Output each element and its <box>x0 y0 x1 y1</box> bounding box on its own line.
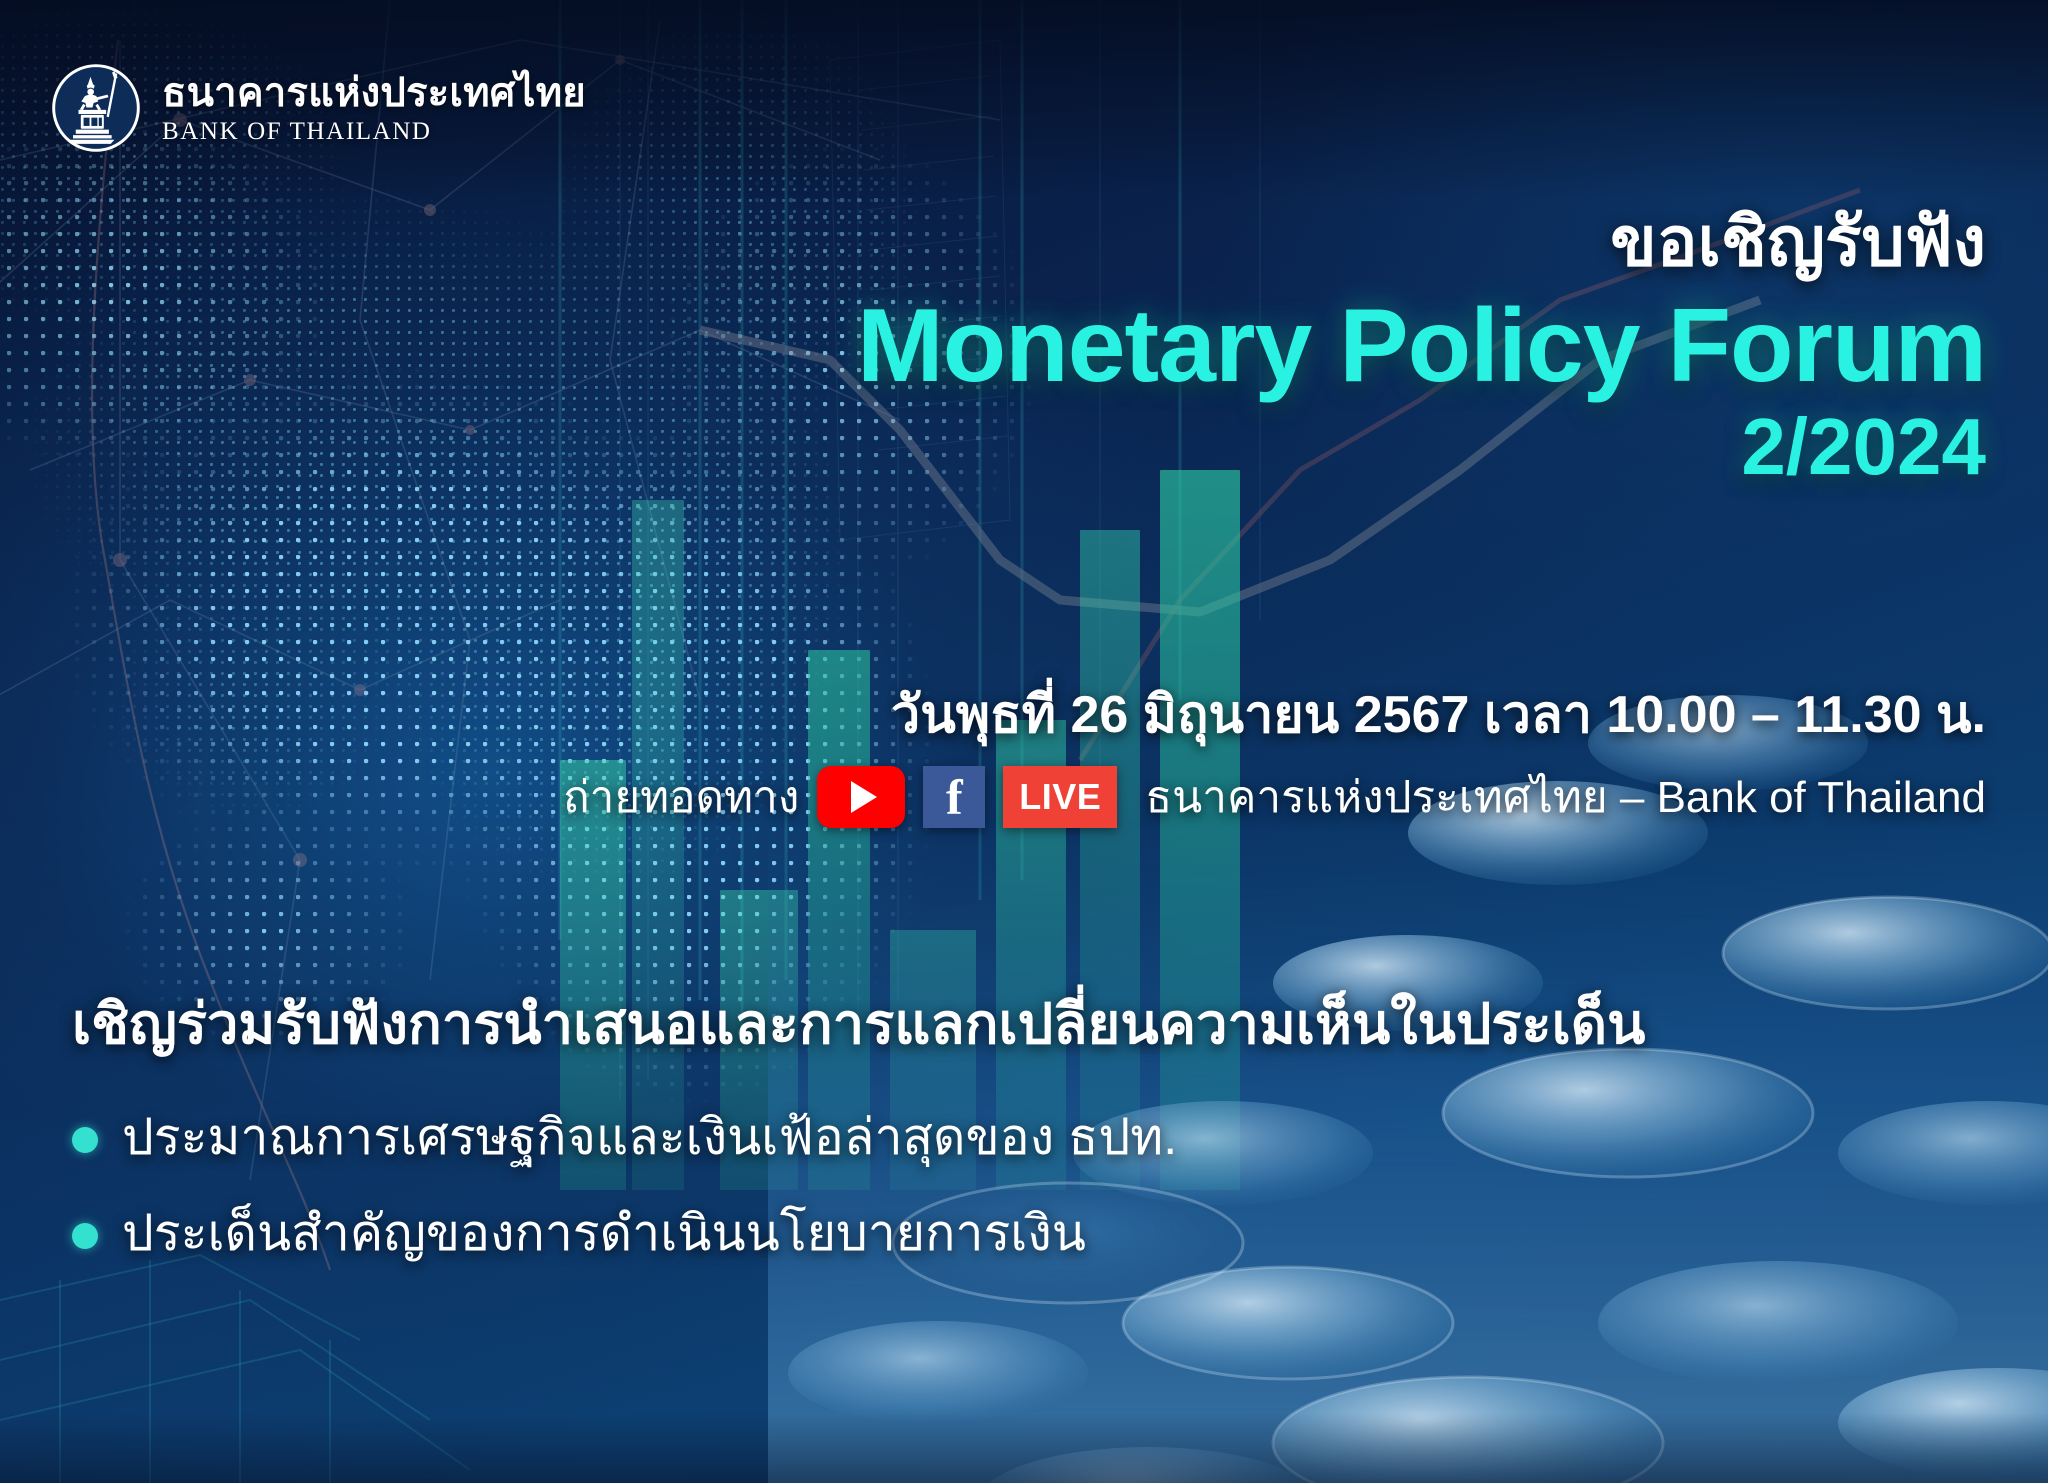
broadcast-row: ถ่ายทอดทาง f LIVE ธนาคารแห่งประเทศไทย – … <box>563 762 1986 832</box>
headline-kicker: ขอเชิญรับฟัง <box>857 206 1986 278</box>
list-item: ประมาณการเศรษฐกิจและเงินเฟ้อล่าสุดของ ธป… <box>72 1107 1645 1167</box>
brand-name-thai: ธนาคารแห่งประเทศไทย <box>162 73 586 113</box>
agenda-item-text: ประมาณการเศรษฐกิจและเงินเฟ้อล่าสุดของ ธป… <box>122 1107 1177 1167</box>
bank-of-thailand-emblem-icon <box>50 62 142 154</box>
bottom-vignette <box>0 1413 2048 1483</box>
headline-block: ขอเชิญรับฟัง Monetary Policy Forum 2/202… <box>857 206 1986 489</box>
agenda-block: เชิญร่วมรับฟังการนำเสนอและการแลกเปลี่ยนค… <box>72 990 1645 1299</box>
youtube-play-icon[interactable] <box>817 766 905 828</box>
broadcast-label: ถ่ายทอดทาง <box>563 762 799 832</box>
bullet-dot-icon <box>72 1223 98 1249</box>
bullet-dot-icon <box>72 1127 98 1153</box>
agenda-item-text: ประเด็นสำคัญของการดำเนินนโยบายการเงิน <box>122 1203 1086 1263</box>
brand-name-english: BANK OF THAILAND <box>162 119 586 144</box>
agenda-heading: เชิญร่วมรับฟังการนำเสนอและการแลกเปลี่ยนค… <box>72 990 1645 1057</box>
agenda-list: ประมาณการเศรษฐกิจและเงินเฟ้อล่าสุดของ ธป… <box>72 1107 1645 1263</box>
event-datetime: วันพุธที่ 26 มิถุนายน 2567 เวลา 10.00 – … <box>891 672 1986 755</box>
page-title: Monetary Policy Forum <box>857 292 1986 401</box>
edition-label: 2/2024 <box>857 405 1986 489</box>
live-badge: LIVE <box>1003 766 1117 828</box>
play-triangle-icon <box>851 781 877 813</box>
poster-canvas: ธนาคารแห่งประเทศไทย BANK OF THAILAND ขอเ… <box>0 0 2048 1483</box>
brand-logo: ธนาคารแห่งประเทศไทย BANK OF THAILAND <box>50 62 586 154</box>
list-item: ประเด็นสำคัญของการดำเนินนโยบายการเงิน <box>72 1203 1645 1263</box>
broadcast-channel: ธนาคารแห่งประเทศไทย – Bank of Thailand <box>1145 762 1986 832</box>
facebook-f-icon[interactable]: f <box>923 766 985 828</box>
